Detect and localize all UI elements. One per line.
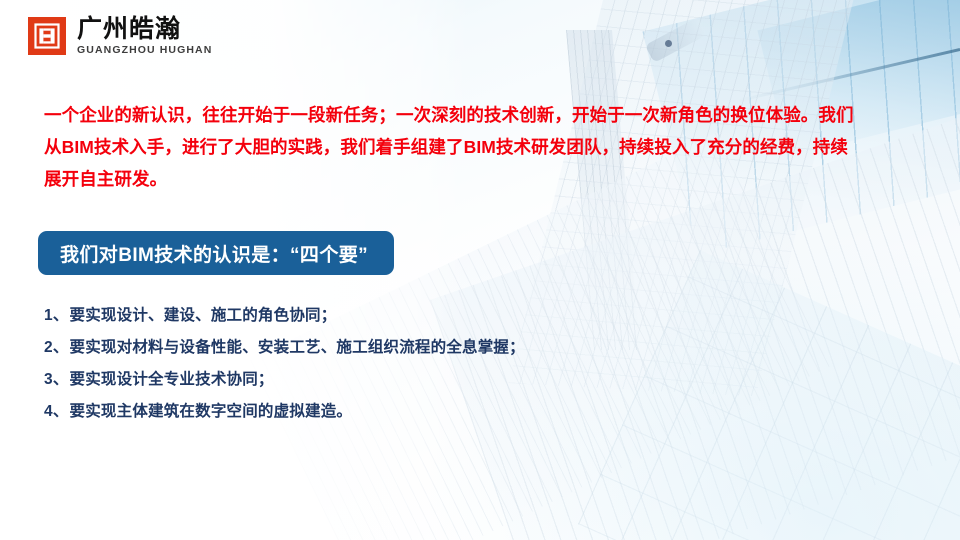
list-item-label: 要实现主体建筑在数字空间的虚拟建造。	[70, 396, 353, 428]
list-item-number: 1、	[44, 300, 69, 332]
list-item-number: 2、	[44, 332, 69, 364]
list-item: 4、 要实现主体建筑在数字空间的虚拟建造。	[44, 396, 525, 428]
headline-paragraph: 一个企业的新认识，往往开始于一段新任务；一次深刻的技术创新，开始于一次新角色的换…	[44, 99, 920, 195]
hughan-square-logo-icon	[28, 17, 66, 55]
glass-mullion-line	[736, 48, 960, 103]
list-item: 2、 要实现对材料与设备性能、安装工艺、施工组织流程的全息掌握；	[44, 332, 525, 364]
section-banner: 我们对BIM技术的认识是：“四个要”	[38, 231, 394, 275]
list-item: 1、 要实现设计、建设、施工的角色协同；	[44, 300, 525, 332]
logo-company-name-en: GUANGZHOU HUGHAN	[77, 44, 212, 56]
logo-company-name-cn: 广州皓瀚	[77, 16, 212, 43]
headline-line-3: 展开自主研发。	[44, 163, 920, 195]
headline-line-2: 从BIM技术入手，进行了大胆的实践，我们着手组建了BIM技术研发团队，持续投入了…	[44, 131, 920, 163]
presentation-slide: 广州皓瀚 GUANGZHOU HUGHAN 一个企业的新认识，往往开始于一段新任…	[0, 0, 960, 540]
list-item-number: 4、	[44, 396, 69, 428]
lower-facade-b	[578, 250, 960, 540]
logo-wordmark: 广州皓瀚 GUANGZHOU HUGHAN	[77, 16, 212, 56]
headline-line-1: 一个企业的新认识，往往开始于一段新任务；一次深刻的技术创新，开始于一次新角色的换…	[44, 99, 920, 131]
tower-mast-tip	[645, 17, 707, 63]
list-item-number: 3、	[44, 364, 69, 396]
company-logo: 广州皓瀚 GUANGZHOU HUGHAN	[28, 16, 212, 56]
tower-mast-dot	[665, 40, 672, 47]
four-requirements-list: 1、 要实现设计、建设、施工的角色协同； 2、 要实现对材料与设备性能、安装工艺…	[44, 300, 525, 428]
list-item-label: 要实现对材料与设备性能、安装工艺、施工组织流程的全息掌握；	[70, 332, 525, 364]
list-item-label: 要实现设计、建设、施工的角色协同；	[70, 300, 337, 332]
tower-facade	[508, 0, 861, 396]
list-item-label: 要实现设计全专业技术协同；	[70, 364, 274, 396]
list-item: 3、 要实现设计全专业技术协同；	[44, 364, 525, 396]
